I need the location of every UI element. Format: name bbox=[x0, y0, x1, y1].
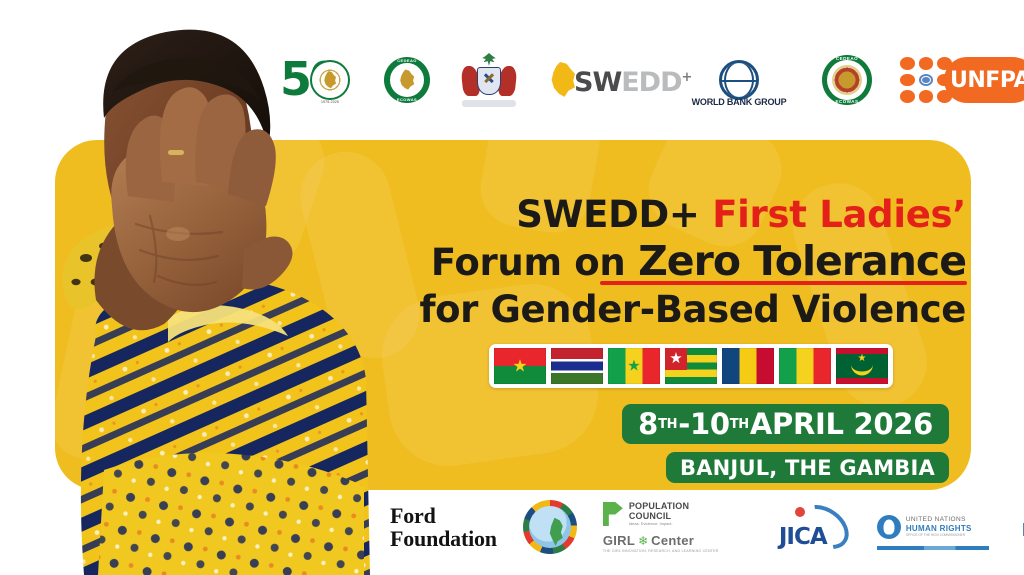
date-separator: - bbox=[678, 407, 690, 441]
flag-mauritania: ★ bbox=[836, 348, 888, 384]
swedd-plus-logo: SWEDD+ bbox=[548, 58, 656, 102]
date-month-year: APRIL 2026 bbox=[750, 407, 933, 441]
jica-dot-icon bbox=[795, 507, 805, 517]
headline-first-ladies-text: First Ladies’ bbox=[712, 193, 966, 236]
globe-icon bbox=[719, 60, 759, 100]
headline-line-3: for Gender-Based Violence bbox=[366, 287, 966, 333]
palm-crest-icon bbox=[481, 53, 497, 68]
swedd-edd-text: EDD bbox=[621, 67, 681, 98]
ecowas-ring-bottom-label: ECOWAS bbox=[384, 97, 430, 102]
africa-map-icon bbox=[398, 70, 417, 91]
cedeao-ring-bottom-label: ECOWAS bbox=[822, 99, 872, 104]
world-bank-group-logo: WORLD BANK GROUP bbox=[684, 51, 794, 109]
pc-title-line-2: COUNCIL bbox=[629, 511, 689, 521]
partner-logo-bar-top: 50 1975-2025 CEDEAO ECOWAS SWEDD+ WORLD … bbox=[280, 44, 1020, 116]
flag-canton: ★ bbox=[665, 348, 687, 370]
ecowas-seal-logo: CEDEAO ECOWAS bbox=[384, 57, 430, 103]
date-sup-start: TH bbox=[658, 417, 677, 432]
swedd-wordmark: SWEDD+ bbox=[574, 64, 691, 96]
un-human-rights-logo: UNITED NATIONS HUMAN RIGHTS OFFICE OF TH… bbox=[877, 505, 995, 549]
un-emblem-icon bbox=[877, 515, 901, 539]
headline-forum-on-text: Forum on bbox=[431, 241, 638, 284]
flag-chad bbox=[722, 348, 774, 384]
world-bank-label: WORLD BANK GROUP bbox=[684, 97, 794, 107]
population-council-mark-icon bbox=[603, 502, 623, 526]
date-sup-end: TH bbox=[730, 417, 749, 432]
girl-center-tagline: THE GIRL INNOVATION, RESEARCH, AND LEARN… bbox=[603, 549, 753, 553]
headline-swedd-text: SWEDD+ bbox=[516, 193, 712, 236]
participating-country-flags: ★ ★ ★ ★ bbox=[489, 344, 893, 388]
girl-text: GIRL bbox=[603, 533, 635, 548]
date-day-end: 10 bbox=[690, 407, 730, 441]
unfpa-label: UNFPA bbox=[944, 57, 1024, 103]
headline-zero-tolerance-text: Zero Tolerance bbox=[638, 237, 966, 285]
headline-line-1: SWEDD+ First Ladies’ bbox=[366, 192, 966, 237]
ford-foundation-logo: Ford Foundation bbox=[390, 504, 497, 550]
ecowas-seal-inner bbox=[389, 62, 425, 98]
event-date-badge: 8TH-10TH APRIL 2026 bbox=[622, 404, 949, 444]
population-council-logo: POPULATION COUNCIL Ideas. Evidence. Impa… bbox=[603, 501, 753, 553]
star-icon: ★ bbox=[512, 358, 527, 375]
population-council-text: POPULATION COUNCIL Ideas. Evidence. Impa… bbox=[629, 501, 689, 527]
flag-senegal: ★ bbox=[608, 348, 660, 384]
motto-scroll-icon bbox=[462, 100, 516, 107]
star-icon: ★ bbox=[669, 351, 682, 366]
poster-root: 50 1975-2025 CEDEAO ECOWAS SWEDD+ WORLD … bbox=[0, 0, 1024, 575]
cedeao-seal-inner bbox=[827, 60, 867, 100]
crescent-icon bbox=[851, 361, 873, 376]
population-council-row: POPULATION COUNCIL Ideas. Evidence. Impa… bbox=[603, 501, 753, 527]
ford-line-2: Foundation bbox=[390, 527, 497, 550]
un-line-3: OFFICE OF THE HIGH COMMISSIONER bbox=[906, 533, 972, 538]
center-text: Center bbox=[651, 533, 694, 548]
gambia-coat-of-arms-logo bbox=[458, 52, 520, 108]
jica-logo: JICA bbox=[779, 504, 851, 550]
cedeao-ecowas-parliament-logo: CEDEAO ECOWAS bbox=[822, 55, 872, 105]
un-color-bar bbox=[877, 546, 989, 550]
pc-tagline: Ideas. Evidence. Impact. bbox=[629, 521, 689, 527]
flag-gambia bbox=[551, 348, 603, 384]
event-location-badge: BANJUL, THE GAMBIA bbox=[666, 452, 949, 483]
un-line-2: HUMAN RIGHTS bbox=[906, 524, 972, 533]
ford-line-1: Ford bbox=[390, 504, 497, 527]
shield-icon bbox=[477, 67, 501, 95]
cedeao-ring-top-label: CEDEAO bbox=[822, 56, 872, 61]
unfpa-logo: UNFPA bbox=[900, 53, 1024, 107]
flag-burkina-faso: ★ bbox=[494, 348, 546, 384]
flag-togo: ★ bbox=[665, 348, 717, 384]
girl-raised-palm-photo bbox=[0, 0, 372, 575]
zero-tolerance-underline bbox=[600, 281, 967, 285]
flag-mali bbox=[779, 348, 831, 384]
headline-line-2: Forum on Zero Tolerance bbox=[366, 237, 966, 287]
flower-icon: ❄ bbox=[638, 535, 648, 547]
star-icon: ★ bbox=[627, 359, 640, 374]
date-day-start: 8 bbox=[638, 407, 658, 441]
jica-label: JICA bbox=[779, 524, 827, 550]
girl-center-lockup: GIRL ❄ Center bbox=[603, 533, 753, 548]
un-line-1: UNITED NATIONS bbox=[906, 516, 972, 524]
global-flags-globe-logo bbox=[523, 500, 577, 554]
partner-logo-bar-bottom: Ford Foundation POPULATION COUNCIL Ideas… bbox=[390, 496, 1010, 558]
swedd-sw-text: SW bbox=[574, 67, 621, 98]
pc-title-line-1: POPULATION bbox=[629, 501, 689, 511]
event-headline: SWEDD+ First Ladies’ Forum on Zero Toler… bbox=[366, 192, 966, 333]
ecowas-ring-top-label: CEDEAO bbox=[384, 58, 430, 63]
globe-icon bbox=[529, 506, 571, 548]
un-human-rights-text: UNITED NATIONS HUMAN RIGHTS OFFICE OF TH… bbox=[906, 516, 972, 538]
